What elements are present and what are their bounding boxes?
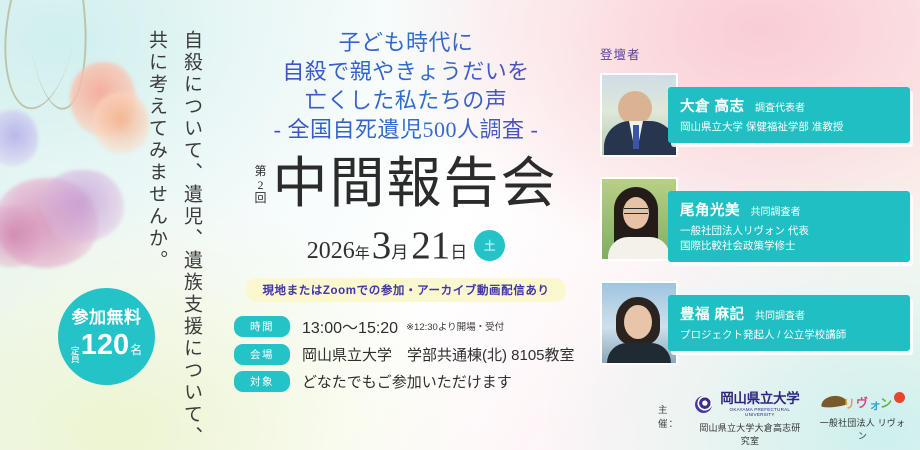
speaker-card: 尾角光美 共同調査者 一般社団法人リヴォン 代表 国際比較社会政策学修士 <box>600 177 910 261</box>
organizer-livon: リ ヴ ォ ン 一般社団法人 リヴォン <box>819 392 906 442</box>
speakers-section: 登壇者 大倉 高志 調査代表者 岡山県立大学 保健福祉学部 准教授 <box>600 44 910 385</box>
livon-name: 一般社団法人 リヴォン <box>819 416 906 442</box>
organizer-label: 主催： <box>658 402 687 430</box>
info-pill-audience: 対象 <box>234 371 290 392</box>
avatar <box>624 305 652 339</box>
date-dayofweek-badge: 土 <box>474 230 505 261</box>
avatar-body <box>608 237 670 261</box>
speaker-name-row: 尾角光美 共同調査者 <box>680 199 898 220</box>
info-pill-time: 時間 <box>234 316 290 337</box>
university-name: 岡山県立大学 <box>715 392 805 406</box>
date-year-unit: 年 <box>355 242 370 263</box>
livon-dot-shape <box>894 392 905 403</box>
avatar-glasses <box>624 208 648 214</box>
livon-logo-char-1: リ <box>843 395 855 412</box>
speakers-heading: 登壇者 <box>600 44 910 63</box>
speaker-name: 大倉 高志 <box>680 99 745 115</box>
date-day: 21 <box>411 223 450 268</box>
livon-logo-char-2: ヴ <box>856 394 868 411</box>
capacity-unit: 名 <box>130 341 142 358</box>
date-month-unit: 月 <box>391 238 408 263</box>
event-subtitle: 子ども時代に 自殺で親やきょうだいを 亡くした私たちの声 - 全国自死遺児500… <box>222 28 590 144</box>
date-year: 2026 <box>307 238 355 265</box>
main-content: 子ども時代に 自殺で親やきょうだいを 亡くした私たちの声 - 全国自死遺児500… <box>222 28 590 398</box>
info-row-audience: 対象 どなたでもご参加いただけます <box>234 371 590 392</box>
flower-petal-lavender <box>0 110 38 166</box>
info-row-venue: 会場 岡山県立大学 学部共通棟(北) 8105教室 <box>234 344 590 365</box>
event-info-list: 時間 13:00〜15:20 ※12:30より開場・受付 会場 岡山県立大学 学… <box>222 314 590 392</box>
date-month: 3 <box>372 223 392 268</box>
info-pill-venue: 会場 <box>234 344 290 365</box>
organizer-university: 岡山県立大学 OKAYAMA PREFECTURAL UNIVERSITY 岡山… <box>695 392 805 447</box>
edition-digit: 2 <box>254 179 266 192</box>
livon-logo-char-4: ン <box>880 394 892 411</box>
event-subtitle-line-4: - 全国自死遺児500人調査 - <box>222 115 590 144</box>
flower-petal-pink <box>0 178 98 268</box>
event-subtitle-line-2: 自殺で親やきょうだいを <box>222 57 590 86</box>
speaker-affiliation: 岡山県立大学 保健福祉学部 准教授 <box>680 120 898 135</box>
speaker-info: 豊福 麻記 共同調査者 プロジェクト発起人 / 公立学校講師 <box>668 295 910 351</box>
flower-stem-icon <box>0 0 87 114</box>
avatar-body <box>607 343 671 365</box>
vertical-text-line-1: 自殺について、遺児、遺族支援について、 <box>178 30 205 448</box>
speaker-name-row: 大倉 高志 調査代表者 <box>680 95 898 116</box>
speaker-card: 大倉 高志 調査代表者 岡山県立大学 保健福祉学部 准教授 <box>600 73 910 157</box>
event-date: 2026 年 3 月 21 日 土 <box>222 223 590 268</box>
speaker-name: 豊福 麻記 <box>680 307 745 323</box>
speaker-photo <box>600 73 678 157</box>
edition-suffix: 回 <box>254 192 266 205</box>
flower-stem-icon <box>22 0 92 112</box>
speaker-card: 豊福 麻記 共同調査者 プロジェクト発起人 / 公立学校講師 <box>600 281 910 365</box>
flower-petal-pink <box>40 170 124 242</box>
event-poster: 自殺について、遺児、遺族支援について、 共に考えてみませんか。 参加無料 定 員… <box>0 0 920 450</box>
capacity-label-char2: 員 <box>71 355 80 364</box>
speaker-info: 尾角光美 共同調査者 一般社団法人リヴォン 代表 国際比較社会政策学修士 <box>668 191 910 262</box>
capacity-label: 定 員 <box>71 347 80 364</box>
speaker-role: 共同調査者 <box>755 311 805 322</box>
speaker-affiliation: 一般社団法人リヴォン 代表 国際比較社会政策学修士 <box>680 224 898 254</box>
avatar-tie <box>633 125 639 149</box>
vertical-text-line-2: 共に考えてみませんか。 <box>143 30 170 272</box>
speaker-role: 共同調査者 <box>750 207 800 218</box>
flower-petal-coral <box>93 92 149 154</box>
free-label: 参加無料 <box>72 309 142 328</box>
speaker-photo <box>600 281 678 365</box>
free-participation-badge: 参加無料 定 員 120 名 <box>58 288 155 385</box>
page-title: 中間報告会 <box>273 156 558 211</box>
capacity-number: 120 <box>81 331 129 360</box>
speaker-photo <box>600 177 678 261</box>
info-value-audience: どなたでもご参加いただけます <box>302 371 512 392</box>
university-name-en: OKAYAMA PREFECTURAL UNIVERSITY <box>715 407 805 417</box>
event-title-row: 第 2 回 中間報告会 <box>222 156 590 211</box>
university-lab: 岡山県立大学大倉高志研究室 <box>695 421 805 447</box>
attendance-mode-banner: 現地またはZoomでの参加・アーカイブ動画配信あり <box>246 278 565 302</box>
info-value-time: 13:00〜15:20 <box>302 314 398 338</box>
flower-petal-coral <box>70 62 136 136</box>
speaker-affiliation: プロジェクト発起人 / 公立学校講師 <box>680 328 898 343</box>
edition-number: 第 2 回 <box>254 165 266 205</box>
info-note-time: ※12:30より開場・受付 <box>406 319 504 333</box>
edition-prefix: 第 <box>254 165 266 178</box>
event-subtitle-line-1: 子ども時代に <box>222 28 590 57</box>
organizer-footer: 主催： 岡山県立大学 OKAYAMA PREFECTURAL UNIVERSIT… <box>658 392 920 447</box>
avatar <box>618 91 652 125</box>
info-row-time: 時間 13:00〜15:20 ※12:30より開場・受付 <box>234 314 590 338</box>
speaker-name-row: 豊福 麻記 共同調査者 <box>680 303 898 324</box>
livon-logo-icon: リ ヴ ォ ン <box>819 392 905 412</box>
flower-petal-pink <box>0 205 48 267</box>
date-day-unit: 日 <box>450 238 467 263</box>
spiral-logo-icon <box>695 396 712 413</box>
speaker-info: 大倉 高志 調査代表者 岡山県立大学 保健福祉学部 准教授 <box>668 87 910 143</box>
university-logo-row: 岡山県立大学 OKAYAMA PREFECTURAL UNIVERSITY <box>695 392 805 417</box>
speaker-role: 調査代表者 <box>755 103 805 114</box>
speaker-name: 尾角光美 <box>680 203 740 219</box>
event-subtitle-line-3: 亡くした私たちの声 <box>222 86 590 115</box>
info-value-venue: 岡山県立大学 学部共通棟(北) 8105教室 <box>302 344 575 365</box>
